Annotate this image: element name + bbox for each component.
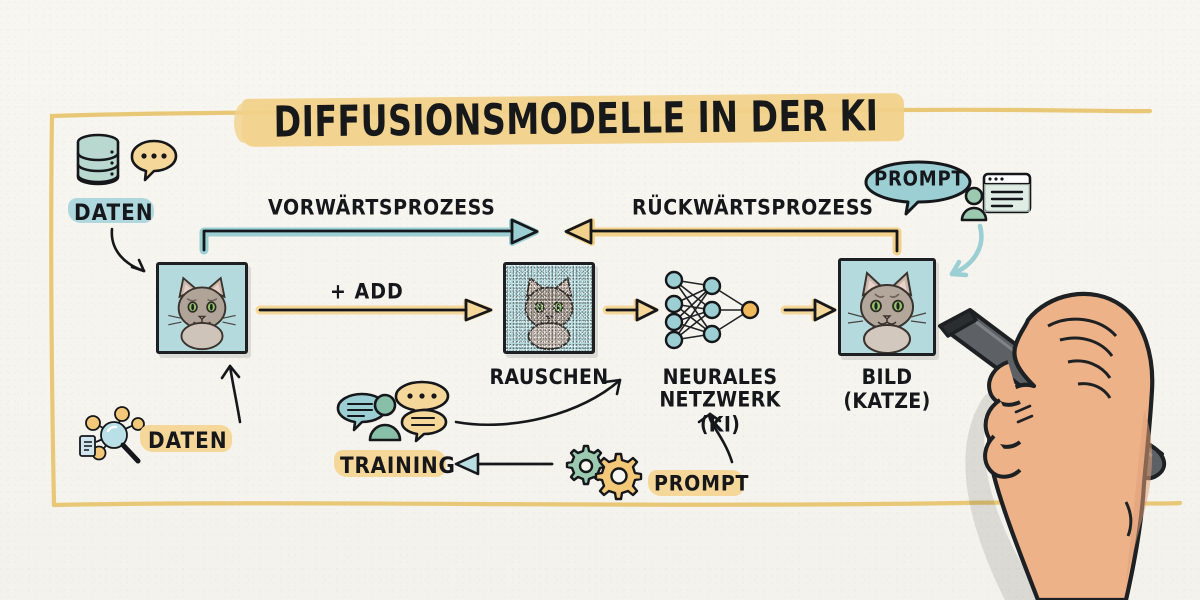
network-caption-line1: NEURALES: [650, 364, 790, 389]
backward-process-label: RÜCKWÄRTSPROZESS: [632, 198, 874, 219]
person-chat-icon: [332, 378, 462, 450]
backward-process-arrow: [560, 218, 905, 258]
hand-holding-pen-icon: [930, 270, 1200, 600]
noise-image-card: [503, 262, 595, 354]
source-image-card: [156, 262, 248, 354]
data-analysis-label: DATEN: [148, 429, 228, 451]
output-image-card: [838, 258, 936, 356]
arrow-prompt-to-network: [628, 408, 738, 468]
arrow-training-to-network: [452, 370, 642, 440]
data-source-label: DATEN: [74, 201, 154, 223]
prompt-gear-label: PROMPT: [654, 474, 749, 495]
title-text: DIFFUSIONSMODELLE IN DER KI: [253, 78, 900, 163]
arrow-network-to-output: [782, 298, 840, 322]
add-arrow: [256, 298, 496, 322]
cat-clean-illustration: [159, 265, 245, 351]
forward-process-arrow: [196, 218, 546, 258]
arrow-noise-to-network: [604, 298, 662, 322]
cat-output-illustration: [841, 261, 933, 353]
noise-overlay: [506, 265, 592, 351]
speech-bubble-dots-icon: [124, 136, 192, 192]
neural-network-icon: [660, 268, 770, 352]
arrow-dataset-to-source: [196, 360, 256, 430]
page-title: DIFFUSIONSMODELLE IN DER KI: [236, 88, 916, 152]
whiteboard-canvas: DIFFUSIONSMODELLE IN DER KI DATEN VORWÄR…: [0, 0, 1200, 600]
arrow-gears-to-training: [448, 450, 558, 478]
training-label: TRAINING: [340, 454, 456, 476]
forward-process-label: VORWÄRTSPROZESS: [268, 198, 495, 219]
prompt-user-label: PROMPT: [874, 170, 965, 190]
